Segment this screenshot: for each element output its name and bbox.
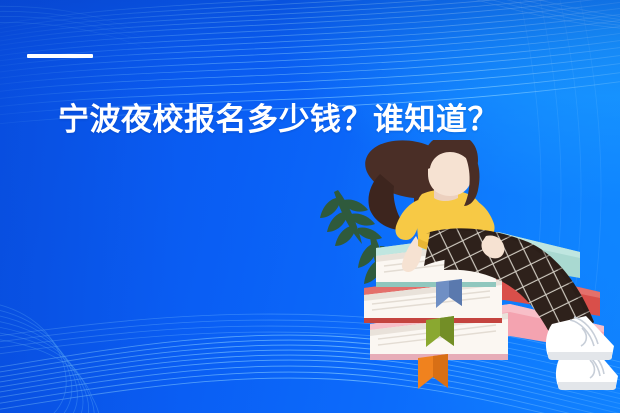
woman-sitting-on-book-stack-illustration <box>318 140 620 413</box>
page-title: 宁波夜校报名多少钱？谁知道？ <box>58 101 499 140</box>
hero-illustration <box>318 140 620 413</box>
bookmark-orange-icon <box>418 354 448 389</box>
decorative-divider <box>27 54 93 58</box>
left-shade-overlay <box>0 0 290 413</box>
promo-banner: 宁波夜校报名多少钱？谁知道？ <box>0 0 620 413</box>
